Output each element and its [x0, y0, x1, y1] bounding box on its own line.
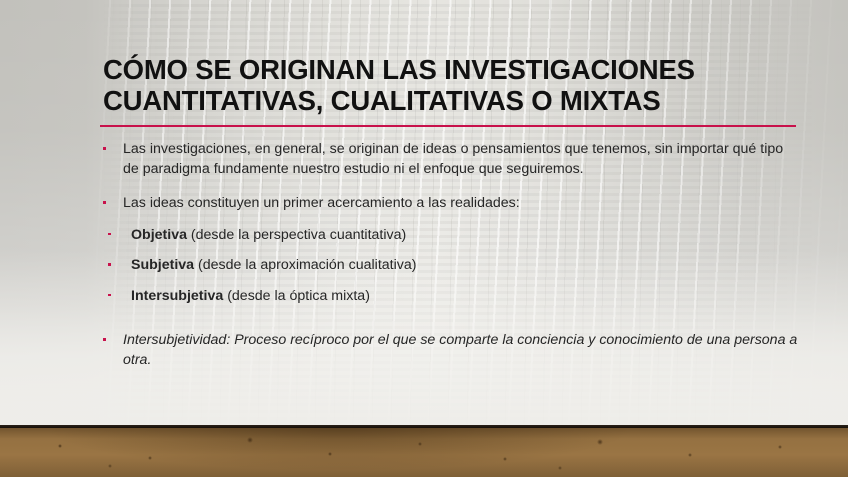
sub-bullet-rest: (desde la óptica mixta) [223, 288, 370, 304]
sub-bullet-lead: Objetiva [131, 227, 187, 243]
sub-bullet-item: Intersubjetiva (desde la óptica mixta) [98, 287, 798, 307]
bullet-item: Las ideas constituyen un primer acercami… [98, 194, 798, 214]
presentation-slide: CÓMO SE ORIGINAN LAS INVESTIGACIONES CUA… [0, 0, 848, 477]
bullet-marker-icon [103, 201, 106, 204]
bullet-text: Las investigaciones, en general, se orig… [123, 141, 783, 177]
bullet-marker-icon [108, 233, 111, 236]
bullet-text: Las ideas constituyen un primer acercami… [123, 195, 520, 211]
bullet-item: Intersubjetividad: Proceso recíproco por… [98, 331, 798, 370]
bullet-marker-icon [103, 147, 106, 150]
wooden-floor [0, 428, 848, 477]
spacer [98, 179, 798, 194]
title-accent-rule [100, 125, 796, 127]
page-title: CÓMO SE ORIGINAN LAS INVESTIGACIONES CUA… [103, 54, 803, 116]
spacer [98, 317, 798, 331]
bullet-marker-icon [103, 338, 106, 341]
slide-body: Las investigaciones, en general, se orig… [98, 140, 798, 370]
bullet-marker-icon [108, 263, 111, 266]
spacer [98, 214, 798, 226]
sub-bullet-lead: Intersubjetiva [131, 288, 223, 304]
floor-shadow-overlay [0, 428, 848, 477]
sub-bullet-item: Objetiva (desde la perspectiva cuantitat… [98, 226, 798, 246]
sub-bullet-item: Subjetiva (desde la aproximación cualita… [98, 256, 798, 276]
bullet-item: Las investigaciones, en general, se orig… [98, 140, 798, 179]
sub-bullet-lead: Subjetiva [131, 257, 194, 273]
bullet-text: Intersubjetividad: Proceso recíproco por… [123, 332, 797, 368]
sub-bullet-rest: (desde la perspectiva cuantitativa) [187, 227, 406, 243]
sub-bullet-rest: (desde la aproximación cualitativa) [194, 257, 416, 273]
bullet-marker-icon [108, 294, 111, 297]
